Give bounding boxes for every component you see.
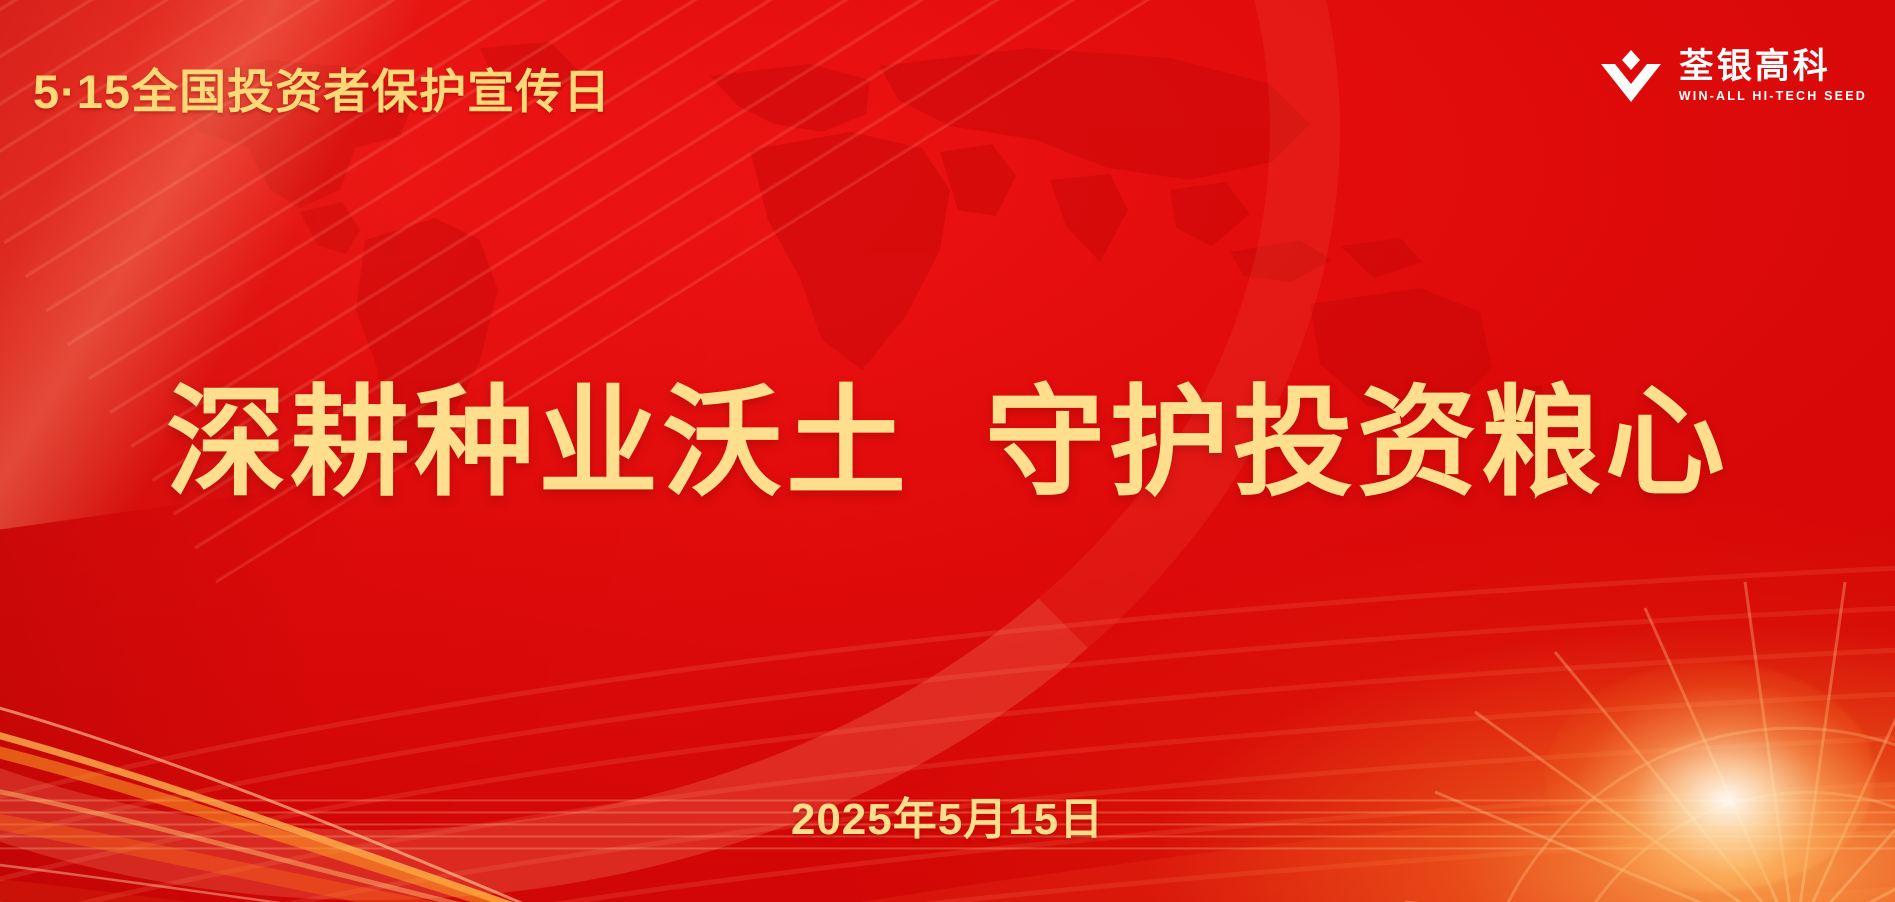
brand-text: 荃银高科 WIN-ALL HI-TECH SEED [1679, 49, 1867, 104]
sprout-chevron-icon [1599, 48, 1663, 104]
event-title: 5·15全国投资者保护宣传日 [33, 53, 611, 122]
main-slogan: 深耕种业沃土 守护投资粮心 [0, 345, 1895, 519]
brand-name-cn: 荃银高科 [1679, 49, 1831, 86]
brand-logo: 荃银高科 WIN-ALL HI-TECH SEED [1599, 48, 1867, 104]
brand-name-en: WIN-ALL HI-TECH SEED [1679, 89, 1867, 103]
event-date: 2025年5月15日 [0, 783, 1895, 847]
promo-banner: 5·15全国投资者保护宣传日 荃银高科 WIN-ALL HI-TECH SEED… [0, 0, 1895, 902]
